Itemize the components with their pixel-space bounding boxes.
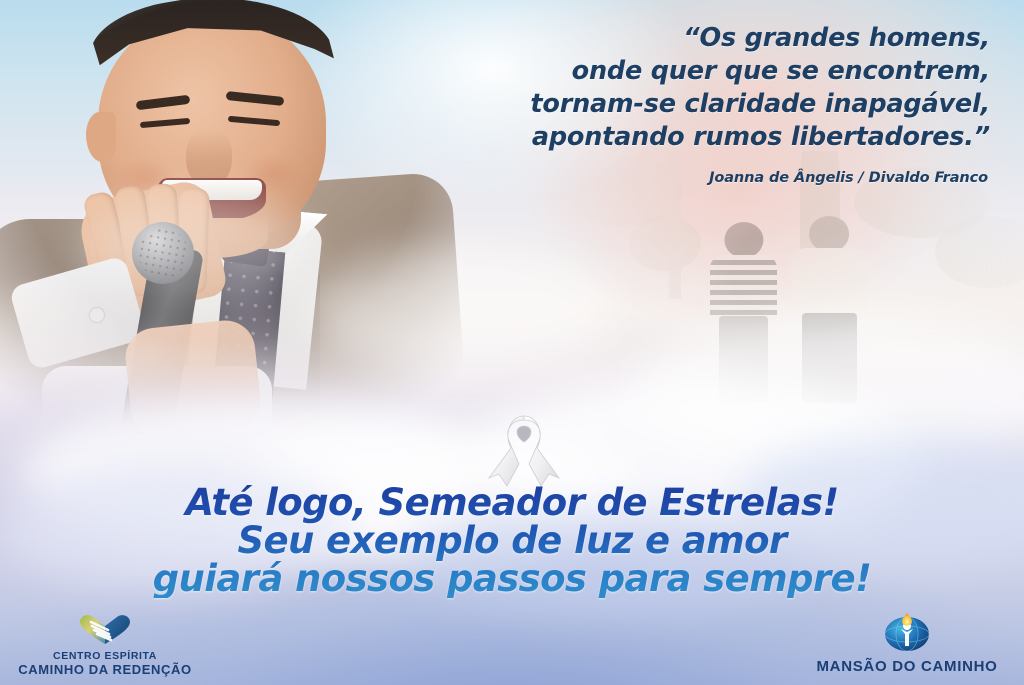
quote-block: “Os grandes homens, onde quer que se enc… xyxy=(370,22,990,154)
logo-left-line1: CENTRO ESPÍRITA xyxy=(53,650,157,662)
logo-right-line1: MANSÃO DO CAMINHO xyxy=(816,658,997,675)
ear xyxy=(86,112,116,162)
cloud-puff xyxy=(307,247,614,370)
person-torso xyxy=(710,255,778,320)
headline-line-1: Até logo, Semeador de Estrelas! xyxy=(0,484,1024,522)
cuff-button xyxy=(90,308,104,322)
globe-figure-flame-icon xyxy=(883,611,931,658)
quote-line-4: apontando rumos libertadores.” xyxy=(370,121,990,154)
headline-line-2: Seu exemplo de luz e amor xyxy=(0,522,1024,560)
white-mourning-ribbon-icon xyxy=(487,412,561,490)
quote-line-3: tornam-se claridade inapagável, xyxy=(370,88,990,121)
pole-shape xyxy=(669,129,681,299)
headline-block: Até logo, Semeador de Estrelas! Seu exem… xyxy=(0,484,1024,598)
quote-line-1: “Os grandes homens, xyxy=(370,22,990,55)
foliage-shape xyxy=(935,216,1024,287)
cloud-puff xyxy=(82,192,307,302)
headline-line-3: guiará nossos passos para sempre! xyxy=(0,560,1024,598)
quote-line-2: onde quer que se encontrem, xyxy=(370,55,990,88)
person-head xyxy=(809,216,849,251)
person-torso xyxy=(791,248,868,317)
heart-hands-icon xyxy=(78,613,132,650)
logo-mansao-do-caminho[interactable]: MANSÃO DO CAMINHO xyxy=(796,611,1018,675)
foliage-shape xyxy=(629,216,701,271)
quote-attribution: Joanna de Ângelis / Divaldo Franco xyxy=(368,170,988,186)
memorial-poster: “Os grandes homens, onde quer que se enc… xyxy=(0,0,1024,685)
logo-left-line2: CAMINHO DA REDENÇÃO xyxy=(18,662,191,677)
logo-centro-espirita[interactable]: CENTRO ESPÍRITA CAMINHO DA REDENÇÃO xyxy=(10,613,200,677)
person-head xyxy=(724,222,763,258)
